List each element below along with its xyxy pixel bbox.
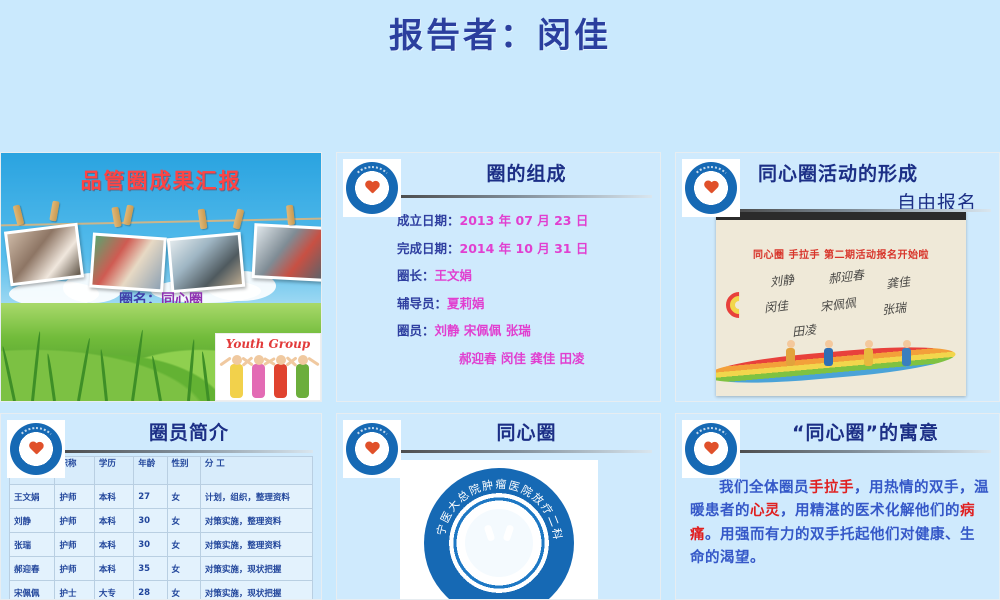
slide-overview-page: 报告者：闵佳 品管圈成果汇报 (0, 0, 1000, 600)
signup-poster-photo: 同心圈 手拉手 第二期活动报名开始啦 刘静 郝迎春 龚佳 闵佳 宋佩佩 张瑞 田… (716, 211, 966, 396)
table-cell: 35 (134, 557, 167, 581)
table-cell: 27 (134, 485, 167, 509)
table-cell: 30 (134, 509, 167, 533)
tongxinquan-logo-icon (682, 159, 740, 217)
figure-red (274, 364, 287, 398)
tongxinquan-logo-icon (682, 420, 740, 478)
table-header-cell: 学历 (94, 457, 133, 485)
tongxinquan-logo-icon (343, 159, 401, 217)
table-row: 刘静 护师 本科 30 女 对策实施，整理资料 (10, 509, 313, 533)
title-rule (395, 195, 652, 198)
handwritten-signature: 刘静 (769, 271, 795, 291)
field-label: 圈员： (397, 323, 435, 338)
table-row: 郝迎春 护师 本科 35 女 对策实施，现状把握 (10, 557, 313, 581)
cover-artwork: 品管圈成果汇报 (1, 153, 321, 401)
youth-group-illustration: Youth Group (215, 333, 321, 401)
photo-image (255, 226, 322, 278)
table-cell: 女 (167, 509, 200, 533)
child-figure (902, 348, 911, 366)
photo-image (170, 235, 242, 290)
child-figure (824, 348, 833, 366)
table-cell: 28 (134, 581, 167, 600)
composition-list: 成立日期：2013 年 07 月 23 日 完成日期：2014 年 10 月 3… (397, 215, 650, 380)
slide-thumbnail-member-profiles[interactable]: 圈员简介 姓名 职称 学历 年龄 性别 分 工 王文娟 (0, 413, 322, 600)
title-rule (734, 209, 991, 212)
tongxinquan-logo-icon (7, 420, 65, 478)
field-label: 完成日期： (397, 241, 460, 256)
table-cell: 郝迎春 (10, 557, 55, 581)
grass-blade (46, 353, 56, 401)
handwritten-signature: 宋佩佩 (819, 294, 857, 315)
slide-title: 同心圈活动的形成 自由报名 (746, 159, 985, 215)
table-cell: 女 (167, 581, 200, 600)
table-cell: 对策实施，整理资料 (200, 509, 312, 533)
table-cell: 对策实施，现状把握 (200, 557, 312, 581)
handwritten-signature: 龚佳 (885, 273, 911, 293)
field-label: 辅导员： (397, 296, 447, 311)
composition-row: 成立日期：2013 年 07 月 23 日 (397, 215, 650, 228)
logo-inner-circle (465, 509, 533, 577)
table-header-cell: 分 工 (200, 457, 312, 485)
table-cell: 护师 (55, 485, 94, 509)
composition-row: 圈员：刘静 宋佩佩 张瑞 (397, 325, 650, 338)
table-row: 宋佩佩 护士 大专 28 女 对策实施，现状把握 (10, 581, 313, 600)
table-row: 张瑞 护师 本科 30 女 对策实施，整理资料 (10, 533, 313, 557)
page-title: 报告者：闵佳 (0, 8, 1000, 57)
title-rule (59, 450, 313, 453)
table-cell: 30 (134, 533, 167, 557)
slides-grid: 品管圈成果汇报 (0, 152, 1000, 600)
poster-headline: 同心圈 手拉手 第二期活动报名开始啦 (716, 246, 966, 261)
slide-title: 圈的组成 (407, 159, 646, 186)
table-row: 王文娟 护师 本科 27 女 计划，组织，整理资料 (10, 485, 313, 509)
figure-yellow (230, 364, 243, 398)
table-cell: 宋佩佩 (10, 581, 55, 600)
composition-row: 郝迎春 闵佳 龚佳 田凌 (397, 353, 650, 366)
body-part-highlight: 心灵 (750, 502, 780, 519)
grass-blade (151, 355, 162, 401)
field-value: 刘静 宋佩佩 张瑞 (435, 323, 531, 338)
slide-title: 同心圈 (407, 418, 646, 445)
composition-row: 辅导员：夏莉娟 (397, 298, 650, 311)
photo-image (92, 236, 163, 290)
table-header-cell: 性别 (167, 457, 200, 485)
field-value: 王文娟 (435, 268, 473, 283)
body-part: ，用精湛的医术化解他们的 (780, 502, 960, 519)
slide-title: 圈员简介 (71, 418, 307, 445)
body-part: 我们全体圈员 (719, 479, 809, 496)
grass-blade (77, 338, 91, 402)
child-figure (864, 348, 873, 366)
field-value: 2013 年 07 月 23 日 (460, 213, 589, 228)
table-cell: 护师 (55, 557, 94, 581)
table-cell: 护士 (55, 581, 94, 600)
poster-top-strip (716, 211, 966, 220)
grass-blade (131, 329, 144, 401)
table-cell: 女 (167, 533, 200, 557)
table-cell: 本科 (94, 485, 133, 509)
slide-thumbnail-activity-formation[interactable]: 同心圈活动的形成 自由报名 同心圈 手拉手 第二期活动报名开始啦 刘静 郝迎春 … (675, 152, 1000, 402)
table-cell: 女 (167, 485, 200, 509)
slide-title: “同心圈”的寓意 (746, 418, 985, 445)
body-part-highlight: 手拉手 (809, 479, 854, 496)
composition-row: 完成日期：2014 年 10 月 31 日 (397, 243, 650, 256)
table-cell: 计划，组织，整理资料 (200, 485, 312, 509)
grass-blade (1, 346, 16, 401)
grass-blade (201, 351, 210, 401)
table-cell: 对策实施，整理资料 (200, 533, 312, 557)
title-rule (734, 450, 991, 453)
table-cell: 护师 (55, 509, 94, 533)
cover-photo (4, 223, 84, 287)
table-cell: 张瑞 (10, 533, 55, 557)
meaning-body: 我们全体圈员手拉手，用热情的双手，温暖患者的心灵，用精湛的医术化解他们的病痛。用… (690, 476, 989, 570)
handwritten-signature: 郝迎春 (827, 266, 865, 287)
table-cell: 本科 (94, 509, 133, 533)
title-rule (395, 450, 652, 453)
table-cell: 护师 (55, 533, 94, 557)
field-value: 夏莉娟 (447, 296, 485, 311)
cover-photo (252, 223, 322, 282)
figure-green (296, 364, 309, 398)
grass-blade (100, 349, 108, 401)
cover-photo (89, 232, 167, 292)
slide-title-line1: 同心圈活动的形成 (758, 163, 918, 185)
rainbow-arc (716, 341, 957, 389)
logo-disc: 宁医大总院肿瘤医院放疗二科 (424, 468, 574, 600)
field-value: 2014 年 10 月 31 日 (460, 241, 589, 256)
handwritten-signature: 田凌 (791, 321, 817, 341)
table-cell: 刘静 (10, 509, 55, 533)
table-cell: 女 (167, 557, 200, 581)
slide-thumbnail-tongxinquan-meaning[interactable]: “同心圈”的寓意 我们全体圈员手拉手，用热情的双手，温暖患者的心灵，用精湛的医术… (675, 413, 1000, 600)
table-cell: 本科 (94, 557, 133, 581)
table-cell: 本科 (94, 533, 133, 557)
handwritten-signature: 闵佳 (763, 297, 789, 317)
tongxinquan-logo-icon (343, 420, 401, 478)
slide-thumbnail-cover[interactable]: 品管圈成果汇报 (0, 152, 322, 402)
body-part: 。用强而有力的双手托起他们对健康、生命的渴望。 (690, 526, 975, 566)
slide-thumbnail-circle-composition[interactable]: 圈的组成 成立日期：2013 年 07 月 23 日 完成日期：2014 年 1… (336, 152, 661, 402)
cover-photo (167, 232, 246, 293)
table-cell: 王文娟 (10, 485, 55, 509)
handwritten-signature: 张瑞 (881, 299, 907, 319)
figure-pink (252, 364, 265, 398)
table-cell: 大专 (94, 581, 133, 600)
table-header-cell: 年龄 (134, 457, 167, 485)
field-label: 圈长： (397, 268, 435, 283)
composition-row: 圈长：王文娟 (397, 270, 650, 283)
photo-image (7, 226, 80, 283)
slide-thumbnail-tongxinquan-logo[interactable]: 同心圈 宁医大总院肿瘤医院放疗二科 (336, 413, 661, 600)
cover-title: 品管圈成果汇报 (1, 165, 321, 195)
grass-blade (31, 331, 41, 401)
table-cell: 对策实施，现状把握 (200, 581, 312, 600)
field-value: 郝迎春 闵佳 龚佳 田凌 (459, 351, 585, 366)
tongxinquan-large-logo: 宁医大总院肿瘤医院放疗二科 (400, 460, 598, 600)
child-figure (786, 348, 795, 366)
grass-blade (187, 339, 195, 401)
field-label: 成立日期： (397, 213, 460, 228)
youth-group-caption: Youth Group (216, 337, 320, 351)
